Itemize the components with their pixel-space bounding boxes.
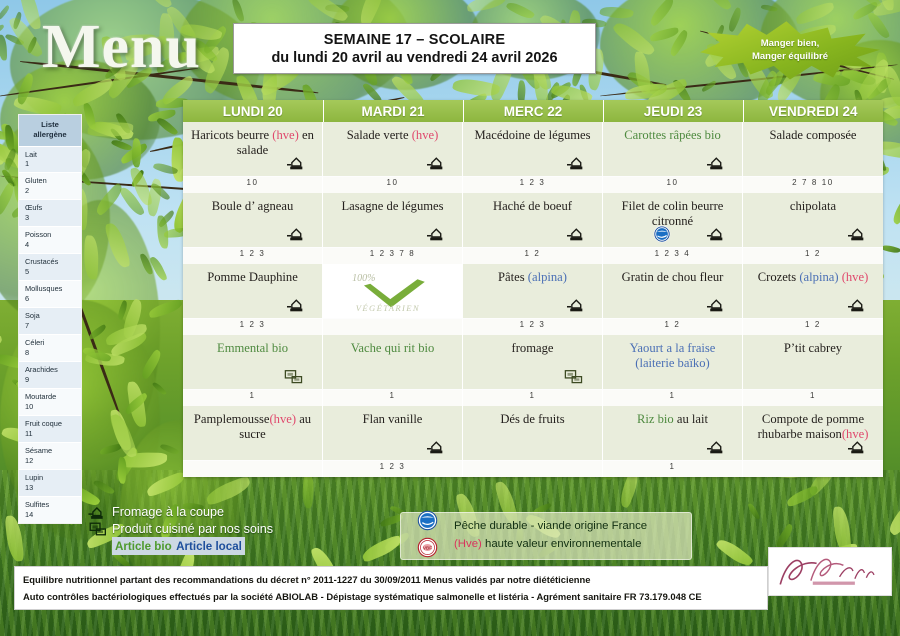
dish-label: Yaourt a la fraise(laiterie baïko) [603, 335, 742, 372]
allergen-label: Moutarde [25, 392, 56, 401]
allergen-label: Crustacés [25, 257, 58, 266]
allergen-label: Sésame [25, 446, 52, 455]
dish-label: Boule d’ agneau [183, 193, 322, 214]
allergen-cell-plat-4: 1 2 [743, 248, 883, 264]
menu-cell-dessert-1[interactable]: Flan vanille [323, 406, 463, 461]
allergen-cell-accompagnement-3: 1 2 [603, 319, 743, 335]
cheese-icon [88, 504, 112, 520]
cooking-pot-icon [848, 297, 869, 314]
allergen-cell-dessert-1: 1 2 3 [323, 461, 463, 477]
msc-fish-label-icon [417, 510, 438, 536]
cooking-pot-icon [707, 226, 728, 243]
allergen-cell-entree-1: 10 [323, 177, 463, 193]
allergen-numbers: 1 [183, 390, 323, 406]
dish-label: Pomme Dauphine [183, 264, 322, 285]
allergen-numbers: 1 2 3 4 [603, 248, 743, 264]
svg-text:100%: 100% [352, 273, 375, 284]
slogan-line-2: Manger équilibré [752, 51, 828, 64]
menu-cell-fromage-3[interactable]: Yaourt a la fraise(laiterie baïko) [603, 335, 743, 390]
allergen-item-gluten: Gluten2 [19, 172, 81, 199]
allergen-number: 11 [25, 429, 76, 439]
allergen-number: 8 [25, 348, 76, 358]
allergen-numbers: 1 2 [463, 248, 603, 264]
allergen-item-cleri: Céleri8 [19, 334, 81, 361]
dish-label: Dés de fruits [463, 406, 602, 427]
cooking-pot-icon [707, 297, 728, 314]
menu-cell-accompagnement-0[interactable]: Pomme Dauphine [183, 264, 323, 319]
allergen-item-fruitcoque: Fruit coque11 [19, 415, 81, 442]
allergen-number: 5 [25, 267, 76, 277]
dish-box: Pâtes (alpina) [463, 264, 603, 319]
menu-cell-plat-3[interactable]: Filet de colin beurre citronné [603, 193, 743, 248]
vegetarien-logo: 100%VÉGÉTARIEN [323, 264, 462, 318]
dish-label: Riz bio au lait [603, 406, 742, 427]
dish-box: chipolata [743, 193, 883, 248]
allergen-rows: Lait1Gluten2Œufs3Poisson4Crustacés5Mollu… [19, 146, 81, 524]
allergen-numbers: 1 [603, 461, 743, 477]
dish-box: Vache qui rit bio [323, 335, 463, 390]
allergen-row-accompagnement: 1 2 3 1 2 31 21 2 [183, 319, 883, 335]
menu-cell-entree-3[interactable]: Carottes râpées bio [603, 122, 743, 177]
allergen-row-entree: 10101 2 3102 7 8 10 [183, 177, 883, 193]
cooking-pot-icon [427, 226, 448, 243]
dish-label: P’tit cabrey [743, 335, 883, 356]
allergen-item-sulfites: Sulfites14 [19, 496, 81, 523]
dish-box: Gratin de chou fleur [603, 264, 743, 319]
allergen-numbers: 1 2 [603, 319, 743, 335]
allergen-item-lupin: Lupin13 [19, 469, 81, 496]
allergen-numbers: 1 2 3 [183, 248, 323, 264]
day-header-vendredi: VENDREDI 24 [743, 100, 883, 122]
allergen-label: Arachides [25, 365, 58, 374]
menu-cell-plat-4[interactable]: chipolata [743, 193, 883, 248]
cheese-wedge-icon [284, 369, 306, 385]
dish-box: Crozets (alpina) (hve) [743, 264, 883, 319]
allergen-number: 13 [25, 483, 76, 493]
cooking-pot-icon [427, 439, 448, 456]
dish-box: Filet de colin beurre citronné [603, 193, 743, 248]
allergen-label: Fruit coque [25, 419, 62, 428]
allergen-row-fromage: 11111 [183, 390, 883, 406]
allergen-number: 4 [25, 240, 76, 250]
allergen-item-mollusques: Mollusques6 [19, 280, 81, 307]
menu-row-fromage: Emmental bioVache qui rit biofromageYaou… [183, 335, 883, 390]
allergen-legend-title: Liste allergène [19, 115, 81, 146]
menu-cell-entree-2[interactable]: Macédoine de légumes [463, 122, 603, 177]
legend-sustainable-fishing-label: Pêche durable - viande origine France [454, 518, 647, 536]
dish-label: Emmental bio [183, 335, 322, 356]
allergen-cell-entree-4: 2 7 8 10 [743, 177, 883, 193]
allergen-number: 9 [25, 375, 76, 385]
allergen-cell-fromage-1: 1 [323, 390, 463, 406]
allergen-numbers [323, 319, 463, 335]
allergen-number: 14 [25, 510, 76, 520]
menu-cell-fromage-4[interactable]: P’tit cabrey [743, 335, 883, 390]
allergen-numbers: 1 2 3 [463, 319, 603, 335]
allergen-cell-dessert-2 [463, 461, 603, 477]
legend-hve-label: haute valeur environnementale [485, 538, 641, 550]
menu-cell-dessert-3[interactable]: Riz bio au lait [603, 406, 743, 461]
allergen-numbers: 1 2 3 7 8 [323, 248, 463, 264]
allergen-cell-entree-2: 1 2 3 [463, 177, 603, 193]
menu-cell-entree-1[interactable]: Salade verte (hve) [323, 122, 463, 177]
allergen-item-lait: Lait1 [19, 146, 81, 173]
legend-cheese-label: Fromage à la coupe [112, 505, 224, 519]
dish-box: Haché de boeuf [463, 193, 603, 248]
page-title: Menu [42, 16, 201, 78]
allergen-title-line1: Liste [41, 120, 59, 129]
allergen-number: 3 [25, 213, 76, 223]
menu-row-plat: Boule d’ agneauLasagne de légumesHaché d… [183, 193, 883, 248]
dish-label: Macédoine de légumes [463, 122, 602, 143]
allergen-label: Céleri [25, 338, 44, 347]
dish-box: Compote de pomme rhubarbe maison(hve) [743, 406, 883, 461]
allergen-cell-accompagnement-1 [323, 319, 463, 335]
dish-label: Pamplemousse(hve) au sucre [183, 406, 322, 443]
allergen-item-ufs: Œufs3 [19, 199, 81, 226]
allergen-label: Sulfites [25, 500, 49, 509]
menu-cell-accompagnement-4[interactable]: Crozets (alpina) (hve) [743, 264, 883, 319]
allergen-cell-fromage-0: 1 [183, 390, 323, 406]
allergen-label: Œufs [25, 203, 42, 212]
week-title-box: SEMAINE 17 – SCOLAIRE du lundi 20 avril … [233, 23, 596, 74]
cooking-pot-icon [567, 155, 588, 172]
cooking-pot-icon [567, 226, 588, 243]
dish-label: Haricots beurre (hve) en salade [183, 122, 322, 159]
allergen-numbers: 1 [603, 390, 743, 406]
table-header-row: LUNDI 20 MARDI 21 MERC 22 JEUDI 23 VENDR… [183, 100, 883, 122]
day-header-mercredi: MERC 22 [463, 100, 603, 122]
allergen-numbers [743, 461, 883, 477]
allergen-label: Soja [25, 311, 40, 320]
legend-row-cheese: Fromage à la coupe [88, 503, 310, 520]
allergen-numbers: 1 2 [743, 248, 883, 264]
legend-local-label: Article local [176, 540, 242, 553]
dish-box: Yaourt a la fraise(laiterie baïko) [603, 335, 743, 390]
dish-label: Vache qui rit bio [323, 335, 462, 356]
allergen-label: Poisson [25, 230, 51, 239]
allergen-cell-dessert-0 [183, 461, 323, 477]
legend-hve-tag: (Hve) [454, 538, 482, 550]
slogan-line-1: Manger bien, [761, 38, 820, 51]
legend-hve-row: (Hve) haute valeur environnementale [454, 536, 647, 554]
cooking-pot-icon [707, 439, 728, 456]
dish-label: fromage [463, 335, 602, 356]
dish-label: chipolata [743, 193, 883, 214]
allergen-number: 10 [25, 402, 76, 412]
dish-box: Dés de fruits [463, 406, 603, 461]
allergen-cell-fromage-3: 1 [603, 390, 743, 406]
allergen-numbers: 10 [323, 177, 463, 193]
allergen-numbers [463, 461, 603, 477]
cooking-pot-icon [88, 521, 112, 537]
svg-text:VBF: VBF [422, 545, 431, 551]
weekly-menu-table: LUNDI 20 MARDI 21 MERC 22 JEUDI 23 VENDR… [183, 100, 883, 477]
dish-box: Riz bio au lait [603, 406, 743, 461]
dish-box: Emmental bio [183, 335, 323, 390]
dish-box: Pomme Dauphine [183, 264, 323, 319]
footer-compliance-text: Equilibre nutritionnel partant des recom… [14, 566, 768, 610]
menu-cell-accompagnement-2[interactable]: Pâtes (alpina) [463, 264, 603, 319]
allergen-row-plat: 1 2 31 2 3 7 81 21 2 3 41 2 [183, 248, 883, 264]
allergen-numbers: 1 [743, 390, 883, 406]
vbf-french-meat-icon: VBF [417, 537, 438, 563]
dish-label: Compote de pomme rhubarbe maison(hve) [743, 406, 883, 443]
dish-box: Boule d’ agneau [183, 193, 323, 248]
legend-homemade-label: Produit cuisiné par nos soins [112, 522, 273, 536]
allergen-cell-dessert-4 [743, 461, 883, 477]
legend-symbols: Fromage à la coupe Produit cuisiné par n… [88, 503, 310, 555]
menu-cell-fromage-1[interactable]: Vache qui rit bio [323, 335, 463, 390]
dish-box: Salade composée [743, 122, 883, 177]
dish-box: 100%VÉGÉTARIEN [323, 264, 463, 319]
dish-box: Flan vanille [323, 406, 463, 461]
allergen-cell-plat-1: 1 2 3 7 8 [323, 248, 463, 264]
dish-box: Macédoine de légumes [463, 122, 603, 177]
allergen-numbers: 1 2 3 [323, 461, 463, 477]
menu-cell-entree-4[interactable]: Salade composée [743, 122, 883, 177]
legend-article-chips: Article bio Article local [112, 537, 245, 555]
svg-text:VÉGÉTARIEN: VÉGÉTARIEN [355, 303, 419, 313]
allergen-cell-accompagnement-0: 1 2 3 [183, 319, 323, 335]
menu-cell-entree-0[interactable]: Haricots beurre (hve) en salade [183, 122, 323, 177]
allergen-legend-panel: Liste allergène Lait1Gluten2Œufs3Poisson… [18, 114, 82, 524]
dish-box: Haricots beurre (hve) en salade [183, 122, 323, 177]
allergen-numbers: 1 [323, 390, 463, 406]
legend-row-homemade: Produit cuisiné par nos soins [88, 520, 310, 537]
allergen-label: Mollusques [25, 284, 62, 293]
allergen-number: 2 [25, 186, 76, 196]
dish-label: Gratin de chou fleur [603, 264, 742, 285]
allergen-item-poisson: Poisson4 [19, 226, 81, 253]
allergen-cell-plat-2: 1 2 [463, 248, 603, 264]
menu-cell-accompagnement-1[interactable]: 100%VÉGÉTARIEN [323, 264, 463, 319]
footer-line-1: Equilibre nutritionnel partant des recom… [23, 571, 759, 588]
allergen-cell-fromage-4: 1 [743, 390, 883, 406]
legend-label-text: Pêche durable - viande origine France (H… [450, 518, 647, 553]
menu-cell-dessert-0[interactable]: Pamplemousse(hve) au sucre [183, 406, 323, 461]
dish-label: Salade verte (hve) [323, 122, 462, 143]
menu-cell-plat-2[interactable]: Haché de boeuf [463, 193, 603, 248]
allergen-numbers: 1 2 3 [463, 177, 603, 193]
menu-row-entree: Haricots beurre (hve) en saladeSalade ve… [183, 122, 883, 177]
dish-box: Carottes râpées bio [603, 122, 743, 177]
allergen-cell-accompagnement-4: 1 2 [743, 319, 883, 335]
allergen-cell-dessert-3: 1 [603, 461, 743, 477]
allergen-numbers: 2 7 8 10 [743, 177, 883, 193]
allergen-cell-plat-0: 1 2 3 [183, 248, 323, 264]
menu-body: Haricots beurre (hve) en saladeSalade ve… [183, 122, 883, 477]
menu-cell-dessert-2[interactable]: Dés de fruits [463, 406, 603, 461]
legend-label-icons: VBF [404, 510, 450, 563]
dish-label: Filet de colin beurre citronné [603, 193, 742, 230]
dish-label: Salade composée [743, 122, 883, 143]
allergen-cell-plat-3: 1 2 3 4 [603, 248, 743, 264]
dish-box: P’tit cabrey [743, 335, 883, 390]
dish-box: Lasagne de légumes [323, 193, 463, 248]
dish-box: fromage [463, 335, 603, 390]
day-header-lundi: LUNDI 20 [183, 100, 323, 122]
cooking-pot-icon [848, 226, 869, 243]
menu-cell-accompagnement-3[interactable]: Gratin de chou fleur [603, 264, 743, 319]
menu-cell-fromage-0[interactable]: Emmental bio [183, 335, 323, 390]
allergen-numbers [183, 461, 323, 477]
allergen-number: 7 [25, 321, 76, 331]
cooking-pot-icon [567, 297, 588, 314]
week-dates-label: du lundi 20 avril au vendredi 24 avril 2… [271, 50, 557, 66]
allergen-numbers: 10 [183, 177, 323, 193]
allergen-label: Lait [25, 150, 37, 159]
cooking-pot-icon [848, 439, 869, 456]
allergen-label: Lupin [25, 473, 43, 482]
dish-label: Haché de boeuf [463, 193, 602, 214]
allergen-item-ssame: Sésame12 [19, 442, 81, 469]
day-header-mardi: MARDI 21 [323, 100, 463, 122]
menu-row-accompagnement: Pomme Dauphine100%VÉGÉTARIENPâtes (alpin… [183, 264, 883, 319]
week-number-label: SEMAINE 17 – SCOLAIRE [324, 32, 505, 48]
allergen-numbers: 10 [603, 177, 743, 193]
legend-bio-label: Article bio [115, 540, 172, 553]
allergen-item-moutarde: Moutarde10 [19, 388, 81, 415]
dish-label: Lasagne de légumes [323, 193, 462, 214]
allergen-item-arachides: Arachides9 [19, 361, 81, 388]
dish-label: Flan vanille [323, 406, 462, 427]
dish-label: Carottes râpées bio [603, 122, 742, 143]
menu-cell-plat-0[interactable]: Boule d’ agneau [183, 193, 323, 248]
dish-label: Pâtes (alpina) [463, 264, 602, 285]
cooking-pot-icon [287, 226, 308, 243]
menu-cell-plat-1[interactable]: Lasagne de légumes [323, 193, 463, 248]
dish-box: Pamplemousse(hve) au sucre [183, 406, 323, 461]
allergen-cell-entree-0: 10 [183, 177, 323, 193]
day-header-jeudi: JEUDI 23 [603, 100, 743, 122]
allergen-numbers: 1 2 3 [183, 319, 323, 335]
allergen-label: Gluten [25, 176, 47, 185]
footer-line-2: Auto contrôles bactériologiques effectué… [23, 588, 759, 605]
cooking-pot-icon [287, 297, 308, 314]
menu-cell-dessert-4[interactable]: Compote de pomme rhubarbe maison(hve) [743, 406, 883, 461]
legend-labels-panel: VBF Pêche durable - viande origine Franc… [400, 512, 692, 560]
company-logo [768, 547, 892, 596]
msc-fish-label-icon [653, 225, 671, 243]
allergen-numbers: 1 [463, 390, 603, 406]
allergen-title-line2: allergène [33, 130, 66, 139]
cooking-pot-icon [707, 155, 728, 172]
allergen-numbers: 1 2 [743, 319, 883, 335]
cooking-pot-icon [287, 155, 308, 172]
allergen-item-crustacs: Crustacés5 [19, 253, 81, 280]
allergen-cell-fromage-2: 1 [463, 390, 603, 406]
allergen-number: 1 [25, 159, 76, 169]
allergen-cell-entree-3: 10 [603, 177, 743, 193]
menu-cell-fromage-2[interactable]: fromage [463, 335, 603, 390]
allergen-row-dessert: 1 2 3 1 [183, 461, 883, 477]
allergen-cell-accompagnement-2: 1 2 3 [463, 319, 603, 335]
menu-row-dessert: Pamplemousse(hve) au sucreFlan vanilleDé… [183, 406, 883, 461]
cheese-wedge-icon [564, 369, 586, 385]
dish-label: Crozets (alpina) (hve) [743, 264, 883, 285]
dish-box: Salade verte (hve) [323, 122, 463, 177]
cooking-pot-icon [427, 155, 448, 172]
allergen-number: 6 [25, 294, 76, 304]
allergen-number: 12 [25, 456, 76, 466]
allergen-item-soja: Soja7 [19, 307, 81, 334]
